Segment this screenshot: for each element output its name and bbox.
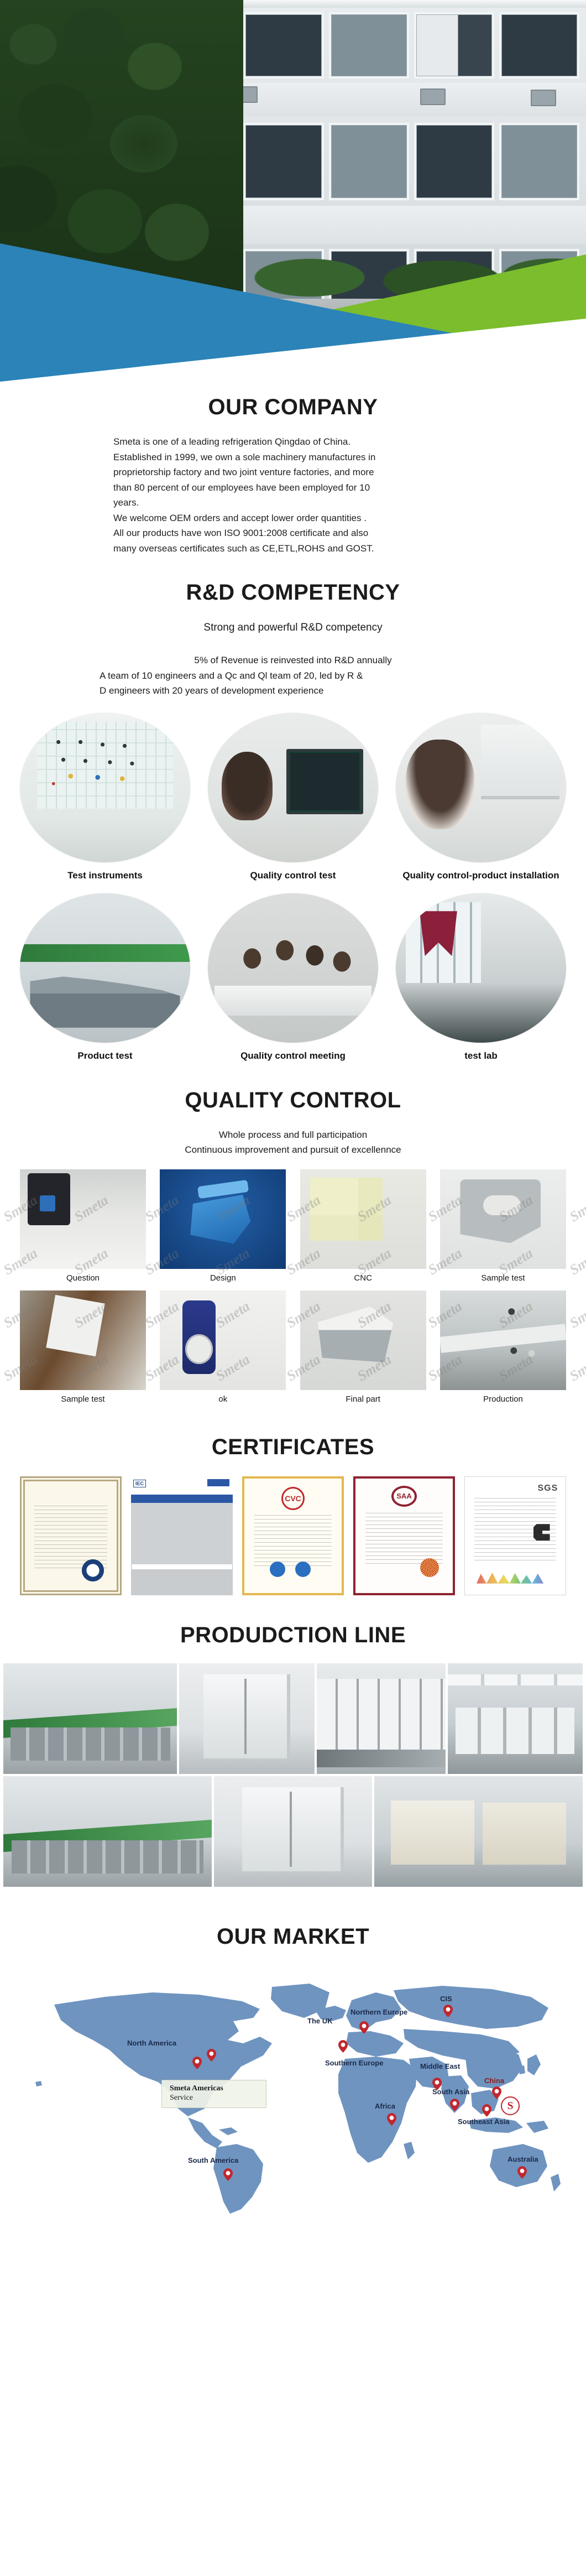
map-pin-southern-europe[interactable]: [338, 2040, 348, 2053]
window: [243, 123, 323, 200]
smeta-watermark: Smeta: [567, 1169, 586, 1172]
quality-caption: Sample test: [440, 1273, 566, 1283]
map-pin-northern-europe[interactable]: [359, 2021, 369, 2034]
air-conditioner-unit: [531, 90, 556, 106]
our-market-section: OUR MARKET: [0, 1889, 586, 2238]
quality-control-test-photo: [208, 713, 378, 862]
gallery-caption: Quality control meeting: [208, 1050, 378, 1061]
quality-subtitle-line: Continuous improvement and pursuit of ex…: [0, 1142, 586, 1157]
rnd-detail-line: A team of 10 engineers and a Qc and Ql t…: [100, 668, 486, 684]
air-conditioner-unit: [420, 89, 446, 105]
map-label-northern-europe: Northern Europe: [350, 2008, 407, 2016]
quality-item: Design: [160, 1169, 286, 1283]
packed-cartons-warehouse-photo: [374, 1776, 583, 1887]
gallery-caption: test lab: [396, 1050, 566, 1061]
quality-item: ok: [160, 1290, 286, 1404]
hero-banner: [0, 0, 586, 382]
quality-row-2: Sample test ok Final part Production: [20, 1290, 566, 1404]
certificates-section: CERTIFICATES CVC SAA SGS: [0, 1407, 586, 1595]
sgs-logo-icon: SGS: [537, 1484, 558, 1493]
map-pin-southeast-asia[interactable]: [482, 2104, 491, 2117]
certificates-row: CVC SAA SGS: [0, 1476, 586, 1595]
gallery-item: Quality control-product installation: [396, 713, 566, 881]
map-pin-africa[interactable]: [387, 2113, 396, 2126]
rnd-subtitle: Strong and powerful R&D competency: [0, 622, 586, 634]
company-profile-page: OUR COMPANY Smeta is one of a leading re…: [0, 0, 586, 2238]
our-company-paragraph: Smeta is one of a leading refrigeration …: [113, 434, 500, 556]
cvc-logo-icon: CVC: [281, 1487, 305, 1510]
quality-caption: Production: [440, 1394, 566, 1404]
gallery-item: Quality control test: [208, 713, 378, 881]
rnd-gallery-row-1: Test instruments Quality control test Qu…: [0, 699, 586, 881]
iec-cb-certificate-image: [131, 1476, 233, 1595]
map-pin-north-america-east[interactable]: [207, 2049, 216, 2062]
company-line: proprietorship factory and two joint ven…: [113, 465, 500, 480]
etl-certificate-image: [20, 1476, 122, 1595]
quality-caption: Question: [20, 1273, 146, 1283]
window: [329, 12, 409, 79]
gallery-item: Test instruments: [20, 713, 190, 881]
assembly-conveyor-line-photo: [3, 1663, 177, 1774]
quality-item: Question: [20, 1169, 146, 1283]
design-photo: [160, 1169, 286, 1269]
production-row-1: [0, 1663, 586, 1774]
production-row-2: [0, 1776, 586, 1887]
map-pin-china[interactable]: [492, 2086, 501, 2099]
world-map-landmass: [22, 1978, 564, 2216]
window: [499, 12, 579, 79]
quality-caption: Design: [160, 1273, 286, 1283]
gallery-item: Quality control meeting: [208, 893, 378, 1061]
our-company-title: OUR COMPANY: [0, 395, 586, 420]
window: [243, 12, 323, 79]
certificates-title: CERTIFICATES: [0, 1435, 586, 1460]
map-label-south-america: South America: [188, 2156, 238, 2164]
our-company-section: OUR COMPANY Smeta is one of a leading re…: [0, 382, 586, 556]
rnd-detail-line: 5% of Revenue is reinvested into R&D ann…: [100, 653, 486, 668]
map-pin-middle-east[interactable]: [432, 2078, 442, 2090]
quality-caption: Final part: [300, 1394, 426, 1404]
quality-subtitle-line: Whole process and full participation: [0, 1127, 586, 1142]
map-label-africa: Africa: [375, 2102, 395, 2110]
ok-gauge-photo: [160, 1290, 286, 1390]
quality-item: Final part: [300, 1290, 426, 1404]
map-pin-south-asia[interactable]: [450, 2099, 459, 2111]
sample-test-photo: [440, 1169, 566, 1269]
quality-caption: ok: [160, 1394, 286, 1404]
map-label-middle-east: Middle East: [420, 2062, 460, 2070]
quality-item: Production: [440, 1290, 566, 1404]
saa-certificate-image: SAA: [353, 1476, 455, 1595]
quality-item: CNC: [300, 1169, 426, 1283]
rnd-title: R&D COMPETENCY: [0, 580, 586, 605]
test-instruments-photo: [20, 713, 190, 862]
quality-control-title: QUALITY CONTROL: [0, 1088, 586, 1113]
quality-item: Sample test: [20, 1290, 146, 1404]
quality-caption: Sample test: [20, 1394, 146, 1404]
company-line: Established in 1999, we own a sole machi…: [113, 450, 500, 465]
map-label-southern-europe: Southern Europe: [325, 2059, 383, 2067]
quality-control-meeting-photo: [208, 893, 378, 1043]
etl-seal-icon: [82, 1559, 104, 1581]
company-line: All our products have won ISO 9001:2008 …: [113, 525, 500, 541]
quality-control-product-installation-photo: [396, 713, 566, 862]
window: [499, 123, 579, 200]
smeta-americas-service-callout: Smeta Americas Service: [161, 2080, 266, 2108]
map-label-australia: Australia: [507, 2155, 538, 2163]
cabinet-assembly-station-photo: [317, 1663, 446, 1774]
quality-control-section: QUALITY CONTROL Whole process and full p…: [0, 1061, 586, 1404]
quality-control-subtitle: Whole process and full participation Con…: [0, 1127, 586, 1157]
company-line: We welcome OEM orders and accept lower o…: [113, 511, 500, 526]
map-label-the-uk: The UK: [307, 2017, 333, 2025]
test-lab-photo: [396, 893, 566, 1043]
production-line-title: PRODUDCTION LINE: [0, 1623, 586, 1648]
question-photo: [20, 1169, 146, 1269]
gallery-item: Product test: [20, 893, 190, 1061]
map-label-north-america: North America: [127, 2039, 176, 2047]
gallery-item: test lab: [396, 893, 566, 1061]
cnas-badge-icon: [270, 1562, 285, 1577]
rnd-competency-section: R&D COMPETENCY Strong and powerful R&D c…: [0, 556, 586, 1061]
iaf-badge-icon: [295, 1562, 311, 1577]
company-line: many overseas certificates such as CE,ET…: [113, 541, 500, 556]
our-market-title: OUR MARKET: [0, 1924, 586, 1949]
gallery-caption: Quality control test: [208, 870, 378, 881]
quality-control-grid: Question Design CNC Sample test: [0, 1169, 586, 1404]
map-pin-australia[interactable]: [517, 2166, 527, 2179]
product-test-photo: [20, 893, 190, 1043]
map-label-china: China: [484, 2077, 504, 2085]
map-label-cis: CIS: [440, 1995, 452, 2003]
freezer-storage-aisle-photo: [214, 1776, 372, 1887]
rnd-details: 5% of Revenue is reinvested into R&D ann…: [100, 653, 486, 699]
workshop-overview-photo: [3, 1776, 212, 1887]
gallery-caption: Quality control-product installation: [396, 870, 566, 881]
finished-units-row-photo: [448, 1663, 583, 1774]
map-label-southeast-asia: Southeast Asia: [458, 2117, 509, 2126]
gallery-caption: Test instruments: [20, 870, 190, 881]
map-pin-south-america[interactable]: [223, 2168, 233, 2181]
saa-logo-icon: SAA: [391, 1486, 417, 1507]
sample-test-2-photo: [20, 1290, 146, 1390]
display-freezer-line-photo: [179, 1663, 314, 1774]
sgs-rainbow-graphic: [477, 1571, 548, 1584]
gallery-caption: Product test: [20, 1050, 190, 1061]
production-line-section: PRODUDCTION LINE: [0, 1595, 586, 1887]
smeta-headquarters-badge: S: [501, 2096, 520, 2115]
rnd-gallery-row-2: Product test Quality control meeting tes…: [0, 881, 586, 1061]
quality-row-1: Question Design CNC Sample test: [20, 1169, 566, 1283]
cvc-certificate-image: CVC: [242, 1476, 344, 1595]
world-market-map: Smeta Americas Service S North America S…: [22, 1978, 564, 2216]
window: [414, 12, 494, 79]
smeta-watermark: Smeta: [567, 1298, 586, 1332]
window: [414, 123, 494, 200]
cnc-photo: [300, 1169, 426, 1269]
map-pin-cis[interactable]: [443, 2005, 453, 2017]
sgs-certificate-image: SGS: [464, 1476, 566, 1595]
rnd-detail-line: D engineers with 20 years of development…: [100, 683, 486, 699]
production-photo: [440, 1290, 566, 1390]
map-pin-north-america-west[interactable]: [192, 2057, 202, 2069]
smeta-watermark: Smeta: [567, 1351, 586, 1385]
smeta-watermark: Smeta: [567, 1192, 586, 1226]
company-line: than 80 percent of our employees have be…: [113, 480, 500, 496]
company-line: Smeta is one of a leading refrigeration …: [113, 434, 500, 450]
window: [329, 123, 409, 200]
quality-caption: CNC: [300, 1273, 426, 1283]
gold-seal-icon: [420, 1558, 439, 1577]
callout-line-1: Smeta Americas: [170, 2084, 259, 2093]
final-part-photo: [300, 1290, 426, 1390]
company-line: years.: [113, 495, 500, 511]
smeta-watermark: Smeta: [567, 1245, 586, 1279]
quality-item: Sample test: [440, 1169, 566, 1283]
callout-line-2: Service: [170, 2094, 259, 2103]
